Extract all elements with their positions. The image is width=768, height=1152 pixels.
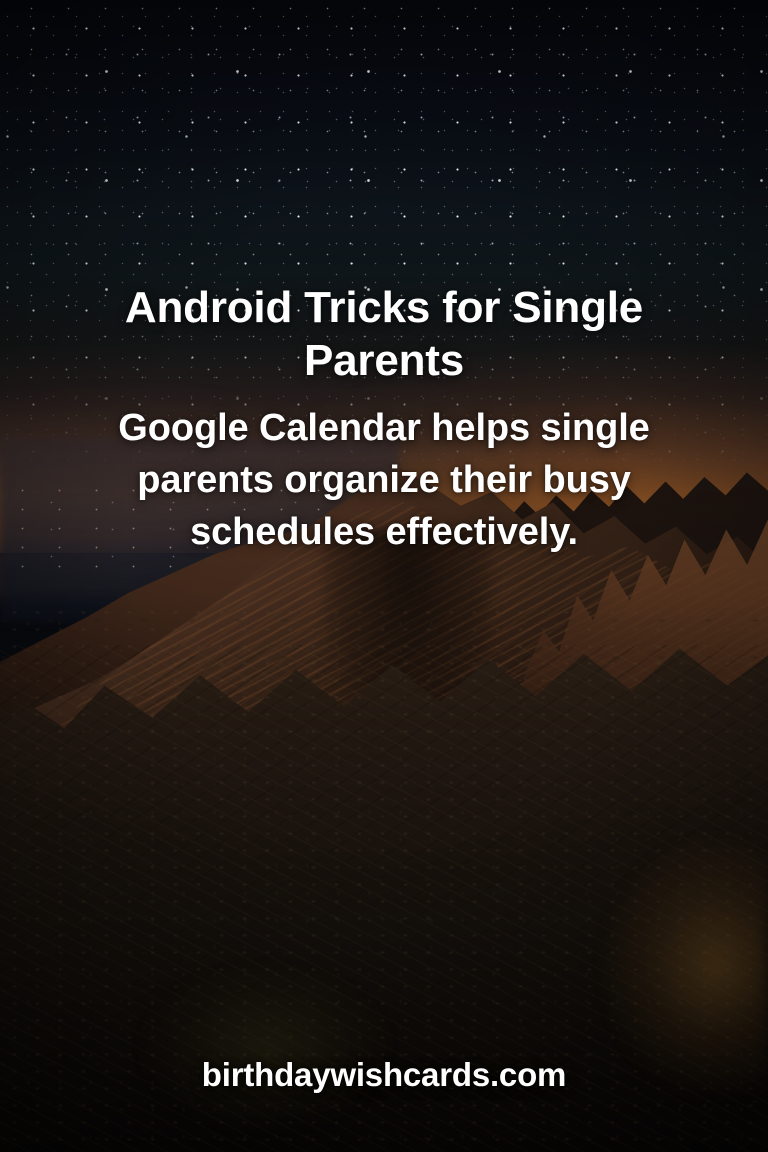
page-title: Android Tricks for Single Parents	[52, 282, 716, 388]
text-overlay: Android Tricks for Single Parents Google…	[0, 0, 768, 1152]
subtitle-text: Google Calendar helps single parents org…	[52, 402, 716, 559]
headline-block: Android Tricks for Single Parents Google…	[52, 282, 716, 559]
website-domain: birthdaywishcards.com	[0, 1056, 768, 1094]
pin-card: Android Tricks for Single Parents Google…	[0, 0, 768, 1152]
